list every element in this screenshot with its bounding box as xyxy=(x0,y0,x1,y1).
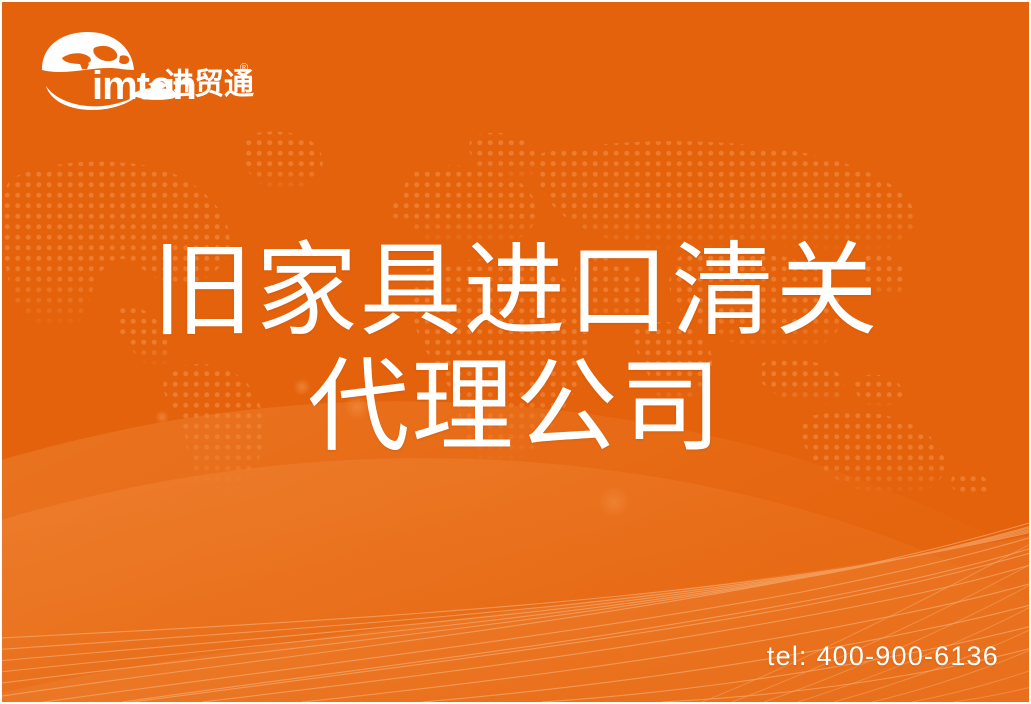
banner-plate: imton 进贸通 ® 旧家具进口清关 代理公司 tel: 400-900-61… xyxy=(2,2,1029,702)
registered-trademark-icon: ® xyxy=(240,63,248,74)
logo-chinese-name: 进贸通 xyxy=(164,70,254,100)
company-logo[interactable]: imton 进贸通 ® xyxy=(36,30,216,106)
contact-telephone[interactable]: tel: 400-900-6136 xyxy=(767,643,999,670)
page-title: 旧家具进口清关 代理公司 xyxy=(2,234,1029,466)
page-title-line-1: 旧家具进口清关 xyxy=(2,234,1029,350)
page-title-line-2: 代理公司 xyxy=(2,350,1029,466)
promo-banner: imton 进贸通 ® 旧家具进口清关 代理公司 tel: 400-900-61… xyxy=(0,0,1031,704)
